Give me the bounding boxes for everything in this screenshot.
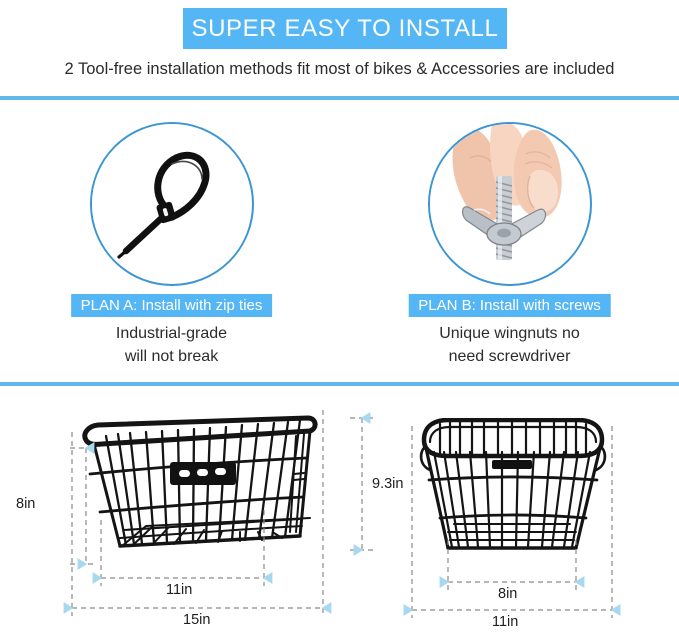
dimension-overlay-left <box>0 390 339 642</box>
basket-right-inner-width-label: 8in <box>498 586 517 602</box>
basket-left-height-label: 8in <box>16 496 35 512</box>
divider-top <box>0 96 679 100</box>
plan-a-label: PLAN A: Install with zip ties <box>81 297 263 314</box>
spec-block-right: 9.3in 8in 11in <box>340 390 679 642</box>
plan-b-label: PLAN B: Install with screws <box>418 297 601 314</box>
header-subtitle: 2 Tool-free installation methods fit mos… <box>0 60 679 79</box>
plan-b-desc-line2: need screwdriver <box>340 345 679 368</box>
plan-a-desc-line1: Industrial-grade <box>2 322 341 345</box>
divider-middle <box>0 382 679 386</box>
dimension-overlay-right <box>340 390 679 642</box>
plan-a-description: Industrial-grade will not break <box>2 322 341 368</box>
header-title-banner: SUPER EASY TO INSTALL <box>183 8 507 49</box>
wingnut-screw-photo <box>428 122 592 286</box>
basket-left-outer-width-label: 15in <box>183 612 210 628</box>
plan-a-desc-line2: will not break <box>2 345 341 368</box>
basket-right-outer-width-label: 11in <box>492 614 518 630</box>
spec-area: 8in 11in 15in <box>0 390 679 642</box>
plan-a-label-banner: PLAN A: Install with zip ties <box>71 294 273 317</box>
plan-b-label-banner: PLAN B: Install with screws <box>408 294 611 317</box>
page-title: SUPER EASY TO INSTALL <box>192 15 499 43</box>
wingnut-screw-illustration <box>430 124 586 280</box>
basket-right-height-label: 9.3in <box>372 476 403 492</box>
zip-tie-photo <box>90 122 254 286</box>
spec-block-left: 8in 11in 15in <box>0 390 339 642</box>
plan-b-description: Unique wingnuts no need screwdriver <box>340 322 679 368</box>
plan-panel-a: PLAN A: Install with zip ties Industrial… <box>2 110 341 370</box>
plan-b-desc-line1: Unique wingnuts no <box>340 322 679 345</box>
basket-left-inner-width-label: 11in <box>166 582 192 598</box>
zip-tie-illustration <box>92 124 248 280</box>
plan-panel-b: PLAN B: Install with screws Unique wingn… <box>340 110 679 370</box>
threaded-screw <box>496 176 512 260</box>
